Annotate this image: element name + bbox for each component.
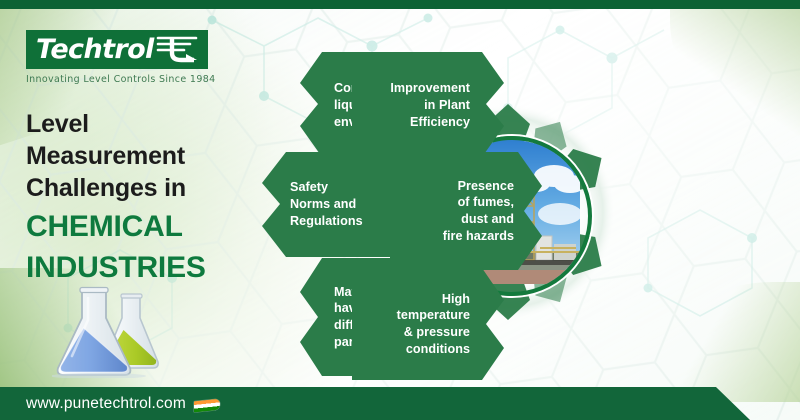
page-title: Level Measurement Challenges in CHEMICAL… xyxy=(26,108,206,286)
callout-temperature-line-1: High xyxy=(397,291,470,308)
callout-efficiency-line-3: Efficiency xyxy=(390,114,470,131)
swoosh-arrow-mark xyxy=(156,35,198,63)
website-url[interactable]: www.punetechtrol.com xyxy=(26,395,186,413)
callout-efficiency-line-1: Improvement xyxy=(390,80,470,97)
callout-fumes-line-4: fire hazards xyxy=(443,228,514,245)
brand-logo: Techtrol Innovating Level Controls Since… xyxy=(26,30,216,85)
callout-safety-line-2: Norms and xyxy=(290,196,363,213)
callout-fumes-line-2: of fumes, xyxy=(443,194,514,211)
callout-fumes-line-3: dust and xyxy=(443,211,514,228)
callout-temperature-line-2: temperature xyxy=(397,307,470,324)
callout-temperature-line-3: & pressure xyxy=(397,324,470,341)
logo-tagline: Innovating Level Controls Since 1984 xyxy=(26,74,216,85)
callout-efficiency[interactable]: Improvement in Plant Efficiency xyxy=(352,52,504,157)
title-emphasis-1: CHEMICAL xyxy=(26,208,206,245)
callout-fumes-line-1: Presence xyxy=(443,178,514,195)
top-accent-bar xyxy=(0,0,800,9)
callout-fumes[interactable]: Presence of fumes, dust and fire hazards xyxy=(390,152,542,270)
callout-safety-line-3: Regulations xyxy=(290,213,363,230)
title-line-3: Challenges in xyxy=(26,172,206,204)
callout-efficiency-line-2: in Plant xyxy=(390,97,470,114)
callout-temperature-line-4: conditions xyxy=(397,341,470,358)
logo-wordmark: Techtrol xyxy=(36,36,154,63)
footer-bar: www.punetechtrol.com xyxy=(0,387,800,420)
title-line-1: Level xyxy=(26,108,206,140)
logo-badge: Techtrol xyxy=(26,30,208,69)
title-emphasis-2: INDUSTRIES xyxy=(26,249,206,286)
title-line-2: Measurement xyxy=(26,140,206,172)
callout-safety-line-1: Safety xyxy=(290,179,363,196)
infographic-canvas: Techtrol Innovating Level Controls Since… xyxy=(0,0,800,420)
india-flag-icon xyxy=(194,399,220,413)
laboratory-flasks-illustration xyxy=(52,286,170,378)
callout-temperature[interactable]: High temperature & pressure conditions xyxy=(352,268,504,380)
